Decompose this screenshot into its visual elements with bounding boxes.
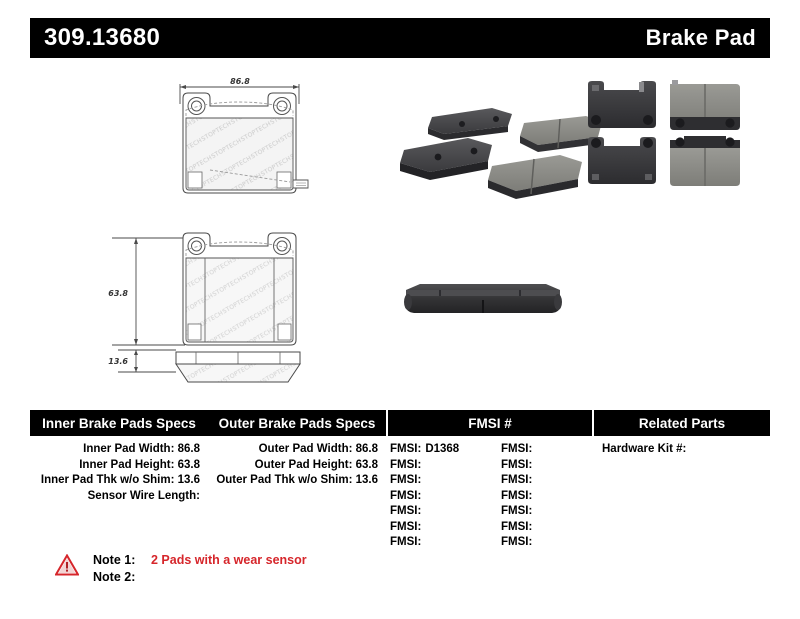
fmsi-subcolumn-left: FMSI:D1368 FMSI: FMSI: FMSI: FMSI: FMSI: xyxy=(390,442,491,551)
photo-flat-pads xyxy=(588,80,740,186)
fmsi-label: FMSI: xyxy=(501,505,532,517)
column-header-related-parts: Related Parts xyxy=(594,410,770,436)
fmsi-row: FMSI: xyxy=(501,535,592,551)
drawing-edge-profile xyxy=(176,352,300,382)
fmsi-value xyxy=(421,521,425,533)
note-1-text: 2 Pads with a wear sensor xyxy=(145,552,307,569)
drawing-slotted-view: 63.8 13.6 xyxy=(108,233,300,382)
column-header-outer-specs: Outer Brake Pads Specs xyxy=(208,416,386,431)
fmsi-label: FMSI: xyxy=(390,459,421,471)
fmsi-row: FMSI: xyxy=(390,520,491,536)
fmsi-value xyxy=(532,490,536,502)
fmsi-row: FMSI: xyxy=(390,473,491,489)
table-body: Inner Pad Width: 86.8 Inner Pad Height: … xyxy=(30,436,770,551)
fmsi-row: FMSI: xyxy=(390,458,491,474)
fmsi-label: FMSI: xyxy=(390,505,421,517)
fmsi-row: FMSI: xyxy=(501,473,592,489)
part-number: 309.13680 xyxy=(44,24,160,52)
fmsi-label: FMSI: xyxy=(390,490,421,502)
note-rows: Note 1: 2 Pads with a wear sensor Note 2… xyxy=(93,552,307,586)
fmsi-label: FMSI: xyxy=(501,490,532,502)
fmsi-row: FMSI:D1368 xyxy=(390,442,491,458)
fmsi-row: FMSI: xyxy=(390,489,491,505)
spec-row: Outer Pad Width: 86.8 xyxy=(208,442,378,458)
fmsi-value xyxy=(532,505,536,517)
svg-text:13.6: 13.6 xyxy=(108,357,128,366)
fmsi-row: FMSI: xyxy=(501,520,592,536)
fmsi-label: FMSI: xyxy=(390,474,421,486)
fmsi-label: FMSI: xyxy=(501,521,532,533)
specifications-table: Inner Brake Pads Specs Outer Brake Pads … xyxy=(30,410,770,551)
fmsi-label: FMSI: xyxy=(390,443,421,455)
fmsi-column: FMSI:D1368 FMSI: FMSI: FMSI: FMSI: FMSI: xyxy=(386,442,592,551)
spec-row: Outer Pad Thk w/o Shim: 13.6 xyxy=(208,473,378,489)
table-header-row: Inner Brake Pads Specs Outer Brake Pads … xyxy=(30,410,770,436)
related-parts-column: Hardware Kit #: xyxy=(592,442,770,551)
fmsi-value xyxy=(532,521,536,533)
fmsi-value xyxy=(532,443,536,455)
spec-row: Outer Pad Height: 63.8 xyxy=(208,458,378,474)
svg-text:63.8: 63.8 xyxy=(108,289,128,298)
fmsi-label: FMSI: xyxy=(501,459,532,471)
fmsi-label: FMSI: xyxy=(390,521,421,533)
fmsi-label: FMSI: xyxy=(501,536,532,548)
drawings-area: STOPTECH STOPTECH xyxy=(0,62,800,392)
fmsi-row: FMSI: xyxy=(501,442,592,458)
fmsi-value xyxy=(532,459,536,471)
fmsi-label: FMSI: xyxy=(390,536,421,548)
fmsi-value xyxy=(532,474,536,486)
fmsi-row: FMSI: xyxy=(501,504,592,520)
related-part-row: Hardware Kit #: xyxy=(602,442,770,458)
fmsi-value xyxy=(421,505,425,517)
spec-row: Sensor Wire Length: xyxy=(30,489,200,505)
spec-row: Inner Pad Thk w/o Shim: 13.6 xyxy=(30,473,200,489)
fmsi-row: FMSI: xyxy=(390,535,491,551)
photo-angled-pads xyxy=(400,108,602,199)
fmsi-label: FMSI: xyxy=(501,443,532,455)
warning-triangle-icon xyxy=(55,554,79,576)
fmsi-value xyxy=(421,490,425,502)
outer-specs-column: Outer Pad Width: 86.8 Outer Pad Height: … xyxy=(208,442,386,551)
fmsi-value xyxy=(421,474,425,486)
spec-row: Inner Pad Width: 86.8 xyxy=(30,442,200,458)
note-1-label: Note 1: xyxy=(93,552,145,569)
fmsi-label: FMSI: xyxy=(501,474,532,486)
note-2-label: Note 2: xyxy=(93,569,145,586)
drawing-front-view: 86.8 xyxy=(180,77,308,193)
photo-edge-pad xyxy=(404,284,562,313)
th-specs-group: Inner Brake Pads Specs Outer Brake Pads … xyxy=(30,410,386,436)
dimension-thickness: 13.6 xyxy=(108,350,176,372)
fmsi-subcolumn-right: FMSI: FMSI: FMSI: FMSI: FMSI: FMSI: xyxy=(491,442,592,551)
inner-specs-column: Inner Pad Width: 86.8 Inner Pad Height: … xyxy=(30,442,208,551)
technical-drawings-svg: STOPTECH STOPTECH xyxy=(0,62,800,392)
page-header-bar: 309.13680 Brake Pad xyxy=(30,18,770,58)
note-row-2: Note 2: xyxy=(93,569,307,586)
dimension-height: 63.8 xyxy=(108,238,185,345)
column-header-inner-specs: Inner Brake Pads Specs xyxy=(30,416,208,431)
fmsi-value xyxy=(532,536,536,548)
svg-text:86.8: 86.8 xyxy=(230,77,250,86)
product-type-label: Brake Pad xyxy=(646,25,756,51)
fmsi-row: FMSI: xyxy=(501,489,592,505)
column-header-fmsi: FMSI # xyxy=(388,410,592,436)
fmsi-value xyxy=(421,459,425,471)
spec-row: Inner Pad Height: 63.8 xyxy=(30,458,200,474)
notes-section: Note 1: 2 Pads with a wear sensor Note 2… xyxy=(55,552,307,586)
note-row-1: Note 1: 2 Pads with a wear sensor xyxy=(93,552,307,569)
fmsi-row: FMSI: xyxy=(390,504,491,520)
fmsi-row: FMSI: xyxy=(501,458,592,474)
fmsi-value xyxy=(421,536,425,548)
fmsi-value: D1368 xyxy=(421,443,459,455)
